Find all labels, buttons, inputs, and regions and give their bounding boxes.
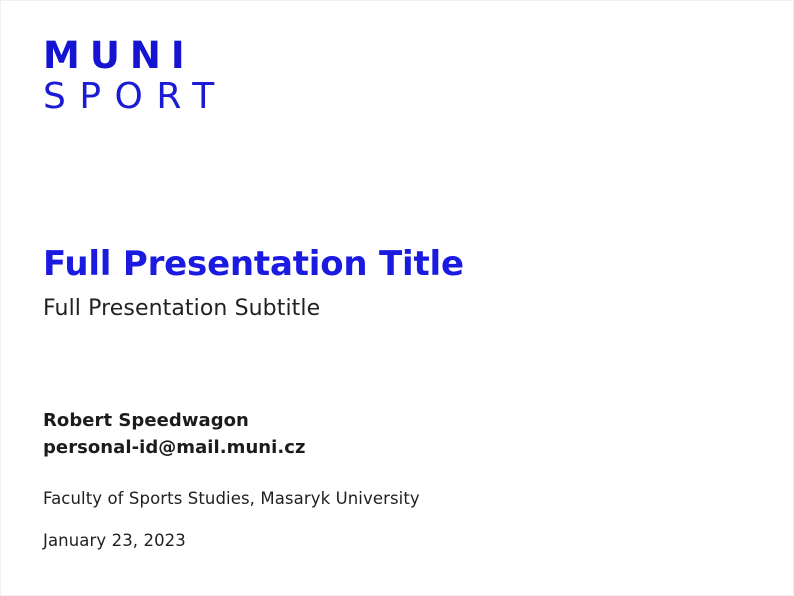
muni-sport-logo: MUNI SPORT — [42, 37, 228, 119]
author-meta-block: Robert Speedwagon personal-id@mail.muni.… — [43, 407, 743, 552]
logo-wordmark-muni: MUNI — [42, 37, 228, 75]
presentation-title: Full Presentation Title — [43, 244, 743, 284]
presentation-subtitle: Full Presentation Subtitle — [43, 296, 743, 322]
logo-wordmark-sport: SPORT — [42, 75, 228, 119]
title-block: Full Presentation Title Full Presentatio… — [43, 244, 743, 323]
author-affiliation: Faculty of Sports Studies, Masaryk Unive… — [43, 488, 743, 509]
presentation-date: January 23, 2023 — [43, 530, 743, 551]
author-name: Robert Speedwagon — [43, 407, 743, 434]
author-email: personal-id@mail.muni.cz — [43, 434, 743, 461]
title-slide: MUNI SPORT Full Presentation Title Full … — [0, 0, 794, 596]
